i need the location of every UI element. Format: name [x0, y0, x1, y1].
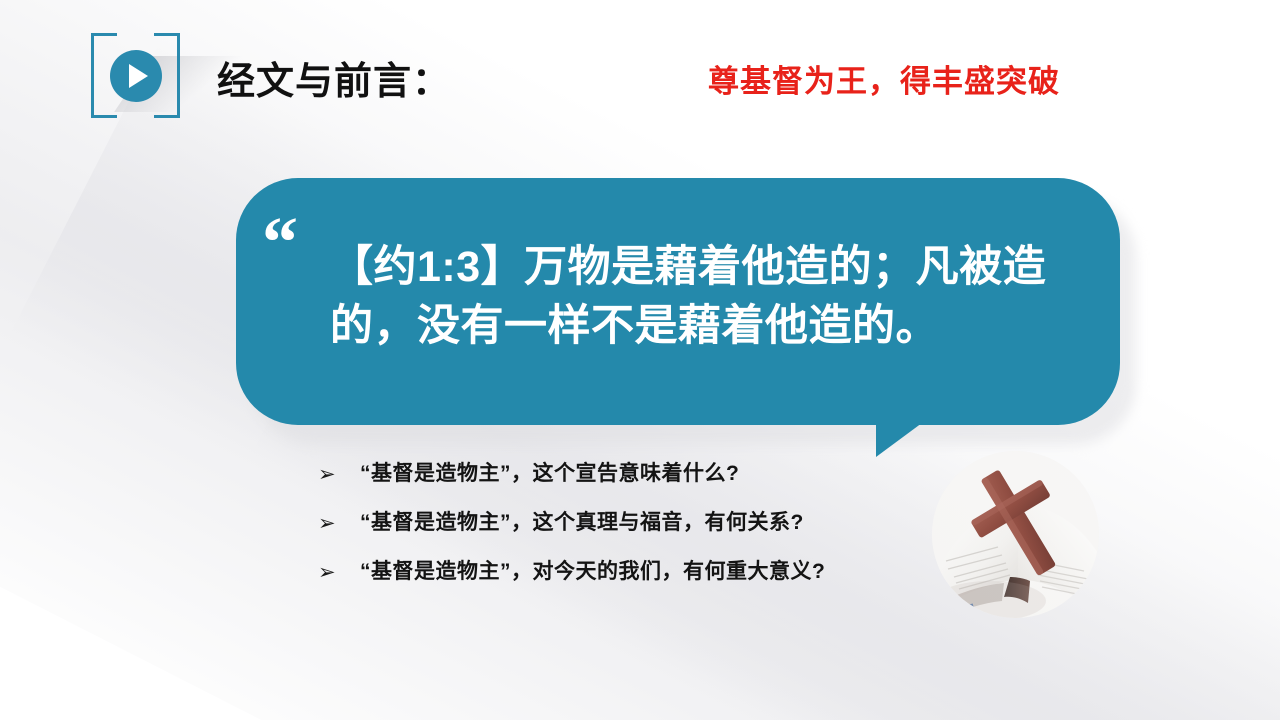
- slide-canvas: 经文与前言： 尊基督为王，得丰盛突破 “ 【约1:3】万物是藉着他造的；凡被造的…: [0, 0, 1280, 720]
- list-item: ➢ “基督是造物主”，对今天的我们，有何重大意义?: [318, 558, 958, 586]
- quote-mark-icon: “: [262, 206, 298, 278]
- bullet-list: ➢ “基督是造物主”，这个宣告意味着什么? ➢ “基督是造物主”，这个真理与福音…: [318, 460, 958, 607]
- cross-on-bible-photo: [932, 451, 1099, 618]
- play-triangle-icon: [129, 64, 148, 88]
- page-title: 经文与前言：: [217, 50, 451, 105]
- list-item-label: “基督是造物主”，这个真理与福音，有何关系?: [360, 509, 958, 537]
- page-subtitle: 尊基督为王，得丰盛突破: [708, 56, 1060, 101]
- list-item: ➢ “基督是造物主”，这个真理与福音，有何关系?: [318, 509, 958, 537]
- play-button-icon[interactable]: [110, 50, 162, 102]
- list-item-label: “基督是造物主”，对今天的我们，有何重大意义?: [360, 558, 958, 586]
- list-item: ➢ “基督是造物主”，这个宣告意味着什么?: [318, 460, 958, 488]
- quote-bubble-text: 【约1:3】万物是藉着他造的；凡被造的，没有一样不是藉着他造的。: [330, 238, 1090, 357]
- arrow-bullet-icon: ➢: [318, 460, 360, 488]
- arrow-bullet-icon: ➢: [318, 558, 360, 586]
- cross-on-bible-illustration: [932, 451, 1099, 618]
- list-item-label: “基督是造物主”，这个宣告意味着什么?: [360, 460, 958, 488]
- quote-bubble-tail: [876, 420, 926, 457]
- arrow-bullet-icon: ➢: [318, 509, 360, 537]
